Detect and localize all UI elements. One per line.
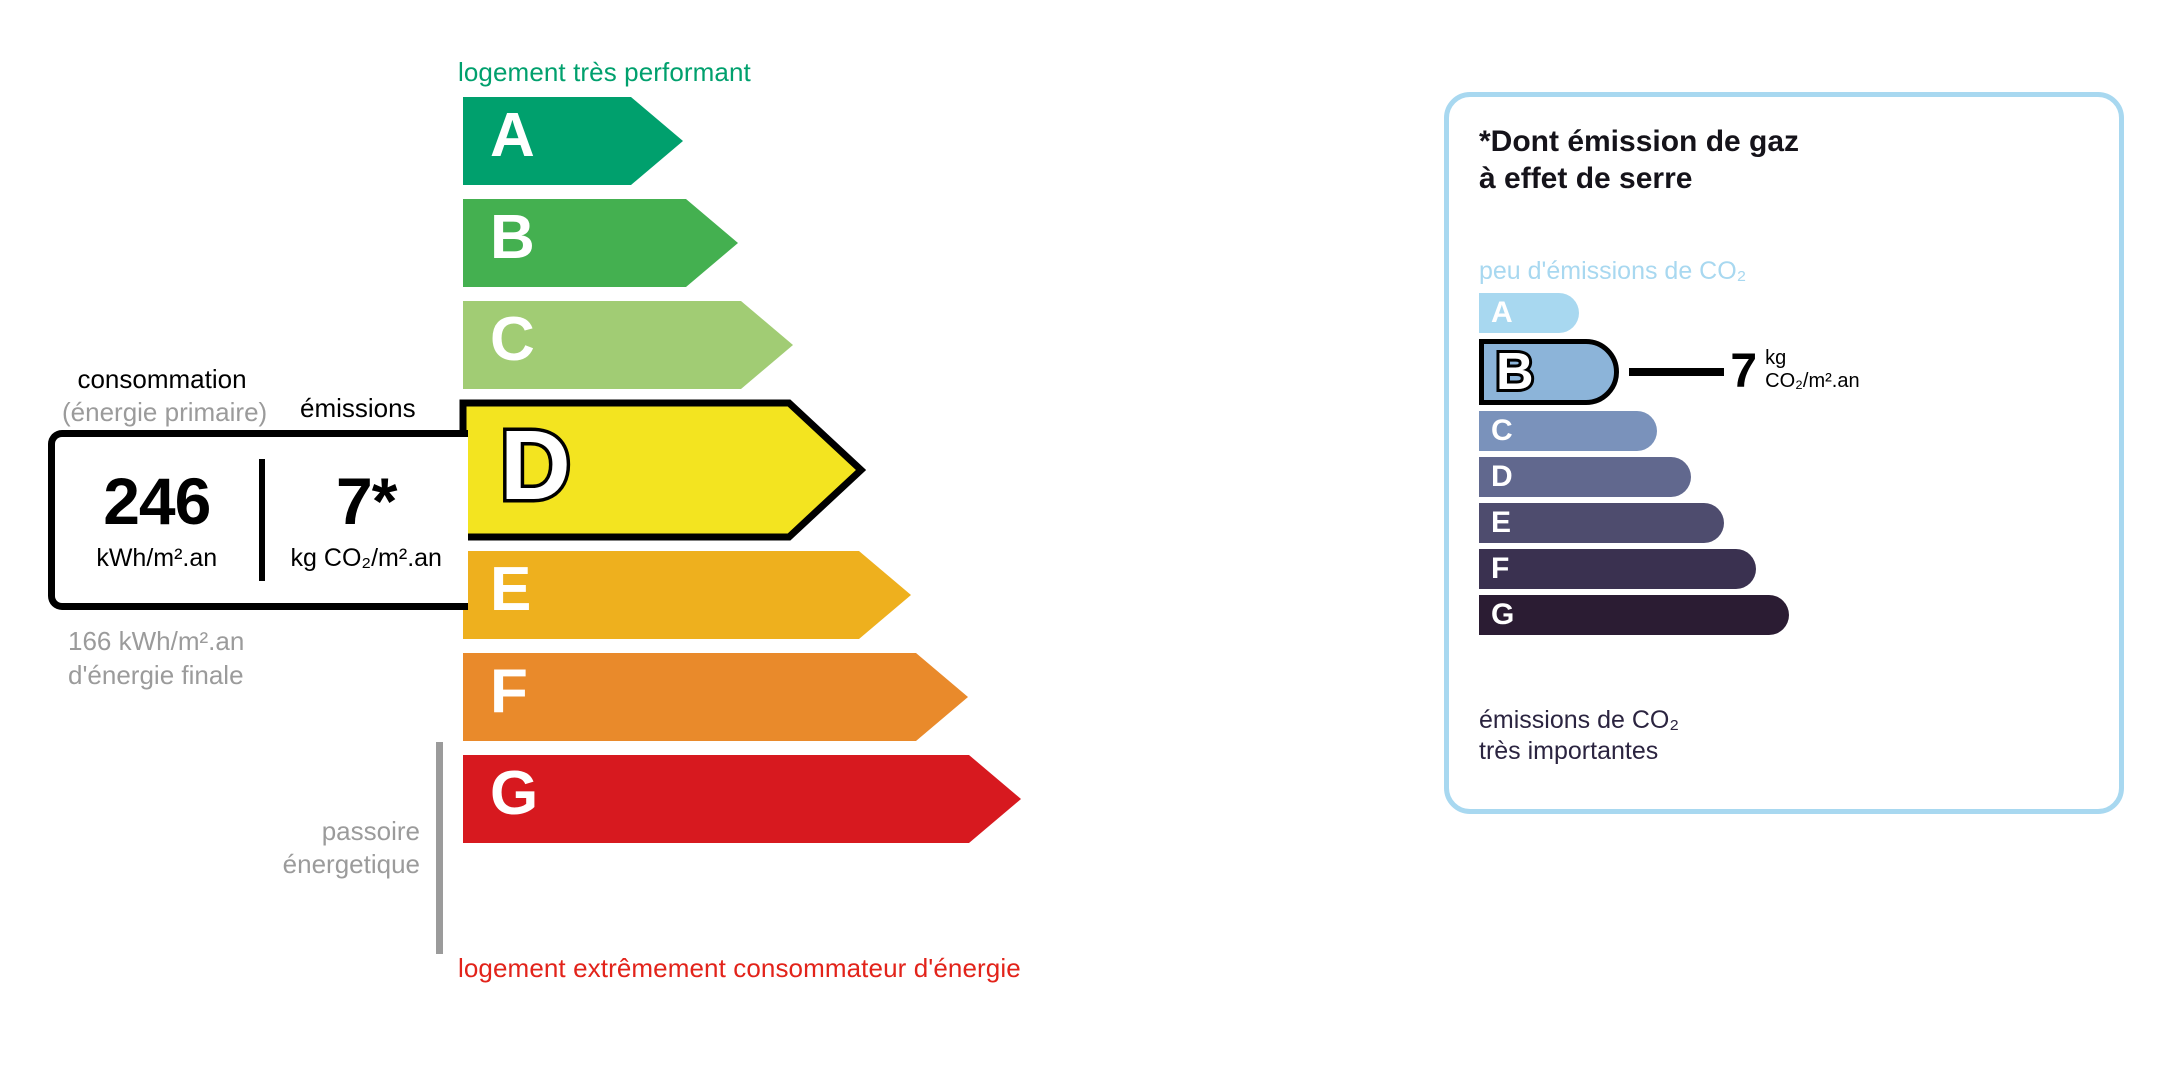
co2-bar-letter-a: A bbox=[1491, 298, 1513, 328]
co2-bar-b: B7kg CO₂/m².an bbox=[1479, 339, 1789, 405]
energy-bar-letter-e: E bbox=[490, 559, 531, 621]
co2-panel-title: *Dont émission de gazà effet de serre bbox=[1479, 123, 1799, 197]
co2-bar-letter-e: E bbox=[1491, 508, 1511, 538]
co2-callout-line bbox=[1629, 368, 1724, 376]
energy-bar-shape-f bbox=[458, 648, 973, 746]
energy-bar-letter-b: B bbox=[490, 207, 535, 269]
co2-bar-letter-b: B bbox=[1496, 346, 1534, 398]
co2-bar-a: A bbox=[1479, 293, 1789, 333]
energy-bar-b: B bbox=[458, 194, 733, 282]
energy-bar-letter-f: F bbox=[490, 661, 528, 723]
co2-bar-letter-f: F bbox=[1491, 554, 1509, 584]
co2-top-caption: peu d'émissions de CO₂ bbox=[1479, 257, 1746, 286]
emissions-label: émissions bbox=[300, 393, 416, 424]
co2-bar-letter-c: C bbox=[1491, 416, 1513, 446]
emissions-unit: kg CO₂/m².an bbox=[265, 544, 469, 573]
co2-bar-fill-e: E bbox=[1479, 503, 1724, 543]
co2-bar-d: D bbox=[1479, 457, 1789, 497]
consumption-unit: kWh/m².an bbox=[55, 544, 259, 573]
energy-bar-letter-a: A bbox=[490, 105, 535, 167]
consumption-label: consommation (énergie primaire) bbox=[62, 363, 262, 428]
co2-bottom-caption: émissions de CO₂très importantes bbox=[1479, 705, 1679, 767]
energy-bottom-caption: logement extrêmement consommateur d'éner… bbox=[458, 953, 1021, 984]
co2-bar-letter-g: G bbox=[1491, 600, 1514, 630]
co2-bar-g: G bbox=[1479, 595, 1789, 635]
energy-bar-letter-d: D bbox=[500, 416, 571, 514]
co2-callout-unit: kg CO₂/m².an bbox=[1765, 347, 1872, 393]
energy-bar-letter-g: G bbox=[490, 763, 538, 825]
co2-bar-fill-f: F bbox=[1479, 549, 1756, 589]
consumption-label-main: consommation bbox=[62, 363, 262, 396]
emissions-value: 7* bbox=[265, 468, 469, 534]
co2-callout: 7kg CO₂/m².an bbox=[1629, 339, 1872, 405]
co2-bar-fill-a: A bbox=[1479, 293, 1579, 333]
consumption-label-sub: (énergie primaire) bbox=[62, 396, 262, 429]
passoire-label: passoireénergetique bbox=[240, 815, 420, 880]
energy-scale-panel: logement très performant ABCDEFG consomm… bbox=[0, 0, 1400, 1079]
energy-bar-g: G bbox=[458, 750, 1016, 838]
co2-bar-letter-d: D bbox=[1491, 462, 1513, 492]
co2-bar-fill-b: B bbox=[1479, 339, 1619, 405]
co2-panel: *Dont émission de gazà effet de serre pe… bbox=[1444, 92, 2124, 814]
co2-bar-c: C bbox=[1479, 411, 1789, 451]
energy-bar-a: A bbox=[458, 92, 678, 180]
energy-bar-f: F bbox=[458, 648, 963, 736]
co2-bar-f: F bbox=[1479, 549, 1789, 589]
emissions-cell: 7* kg CO₂/m².an bbox=[265, 468, 469, 573]
co2-callout-value: 7 bbox=[1730, 348, 1757, 396]
energy-bar-d: D bbox=[458, 398, 856, 532]
passoire-bracket bbox=[436, 742, 443, 954]
dpe-diagram: logement très performant ABCDEFG consomm… bbox=[0, 0, 2170, 1079]
final-energy-note: 166 kWh/m².and'énergie finale bbox=[68, 625, 244, 693]
consumption-cell: 246 kWh/m².an bbox=[55, 468, 259, 573]
energy-bar-e: E bbox=[458, 546, 906, 634]
energy-bar-letter-c: C bbox=[490, 309, 535, 371]
energy-bar-c: C bbox=[458, 296, 788, 384]
consumption-value: 246 bbox=[55, 468, 259, 534]
co2-bar-list: AB7kg CO₂/m².anCDEFG bbox=[1479, 293, 1789, 641]
co2-bar-fill-g: G bbox=[1479, 595, 1789, 635]
co2-bar-fill-d: D bbox=[1479, 457, 1691, 497]
co2-bar-e: E bbox=[1479, 503, 1789, 543]
co2-bar-fill-c: C bbox=[1479, 411, 1657, 451]
value-box: 246 kWh/m².an 7* kg CO₂/m².an bbox=[48, 430, 468, 610]
energy-bar-shape-g bbox=[458, 750, 1026, 848]
